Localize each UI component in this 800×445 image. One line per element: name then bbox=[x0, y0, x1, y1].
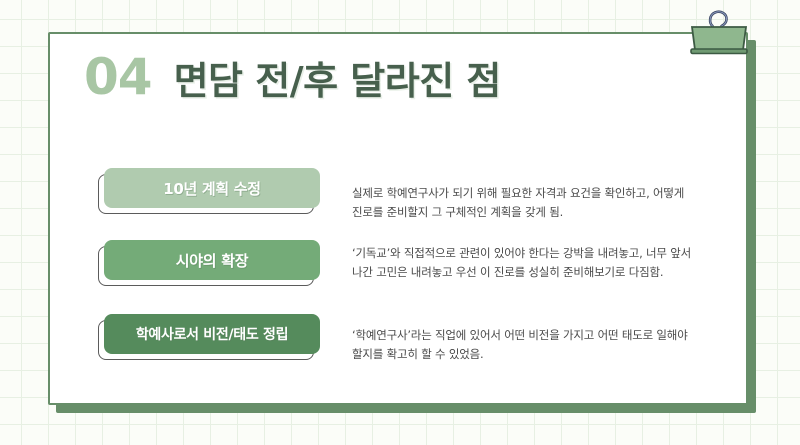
page-title: 면담 전/후 달라진 점 bbox=[174, 62, 501, 100]
topic-button-1-label[interactable]: 10년 계획 수정 bbox=[104, 168, 320, 208]
slide-number: 04 bbox=[84, 52, 152, 102]
topic-button-3-label[interactable]: 학예사로서 비전/태도 정립 bbox=[104, 314, 320, 354]
content-row-1: 10년 계획 수정 bbox=[104, 168, 320, 208]
topic-button-3[interactable]: 학예사로서 비전/태도 정립 bbox=[104, 314, 320, 354]
slide-title-row: 04 면담 전/후 달라진 점 bbox=[84, 52, 501, 102]
topic-button-2-label[interactable]: 시야의 확장 bbox=[104, 240, 320, 280]
content-row-3: 학예사로서 비전/태도 정립 bbox=[104, 314, 320, 354]
topic-button-2[interactable]: 시야의 확장 bbox=[104, 240, 320, 280]
binder-clip-icon bbox=[688, 6, 750, 58]
topic-button-1[interactable]: 10년 계획 수정 bbox=[104, 168, 320, 208]
content-row-2: 시야의 확장 bbox=[104, 240, 320, 280]
